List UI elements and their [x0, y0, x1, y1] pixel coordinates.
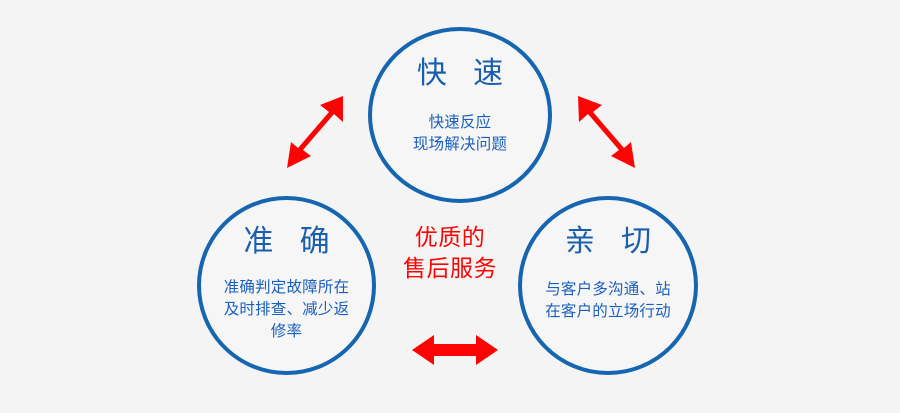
double-arrow-horizontal-icon — [410, 330, 500, 370]
infographic-canvas: 快 速 快速反应 现场解决问题 准 确 准确判定故障所在 及时排查、减少返 修率… — [0, 0, 900, 413]
circle-node-description: 快速反应 现场解决问题 — [413, 112, 507, 156]
circle-node-title: 准 确 — [234, 227, 338, 257]
center-headline: 优质的 售后服务 — [392, 222, 508, 284]
circle-node-title: 快 速 — [408, 59, 512, 89]
double-arrow-diagonal-up-right-icon — [283, 92, 353, 176]
circle-node-kuaisu[interactable]: 快 速 快速反应 现场解决问题 — [368, 27, 552, 203]
circle-node-zhunque[interactable]: 准 确 准确判定故障所在 及时排查、减少返 修率 — [197, 196, 376, 375]
circle-node-qinqie[interactable]: 亲 切 与客户多沟通、站 在客户的立场行动 — [518, 196, 698, 375]
circle-node-description: 准确判定故障所在 及时排查、减少返 修率 — [224, 277, 350, 343]
circle-node-title: 亲 切 — [556, 227, 660, 257]
double-arrow-diagonal-down-right-icon — [568, 92, 638, 176]
circle-node-description: 与客户多沟通、站 在客户的立场行动 — [545, 279, 671, 323]
